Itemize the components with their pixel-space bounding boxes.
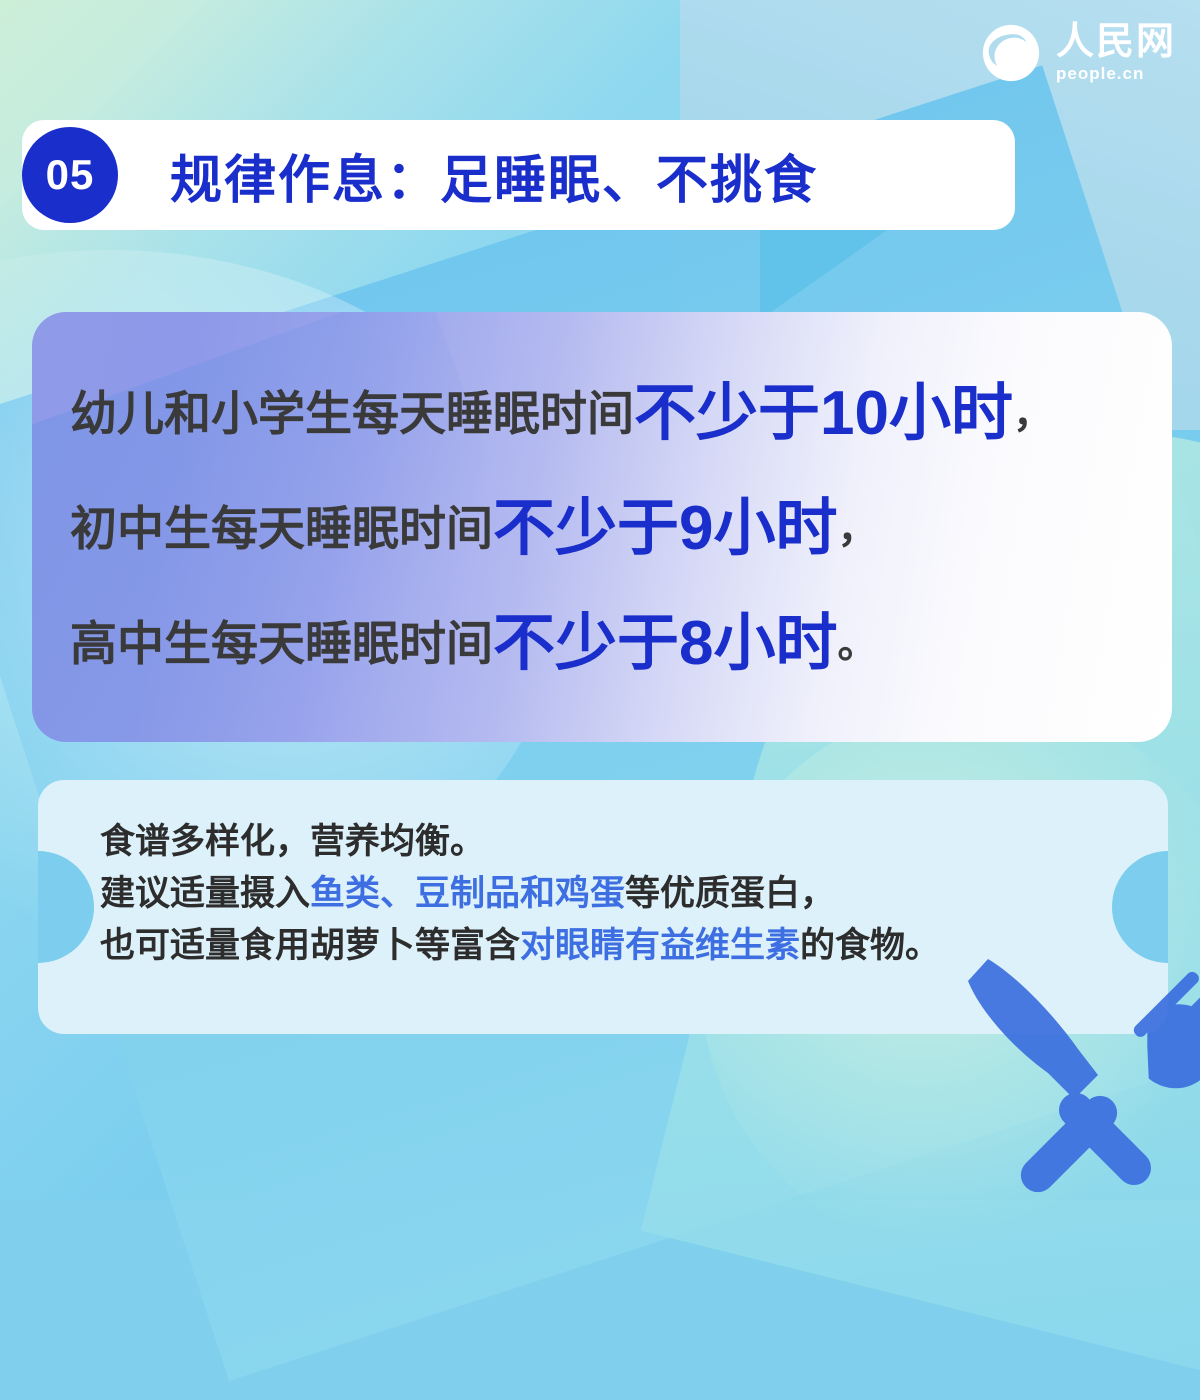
nutrition-advice-text: 食谱多样化，营养均衡。 建议适量摄入鱼类、豆制品和鸡蛋等优质蛋白， 也可适量食用…: [38, 780, 1168, 971]
brand-name-en: people.cn: [1056, 64, 1144, 84]
knife-and-fork-icon: [960, 955, 1200, 1215]
advice-segment-highlight: 鱼类、豆制品和鸡蛋: [310, 874, 625, 913]
advice-segment: 建议适量摄入: [100, 874, 310, 913]
sleep-statement-list: 幼儿和小学生每天睡眠时间 不少于10小时 ， 初中生每天睡眠时间 不少于9小时 …: [32, 312, 1172, 701]
statement-highlight-text: 不少于10小时: [634, 383, 1013, 445]
advice-line: 食谱多样化，营养均衡。: [100, 816, 1168, 868]
statement-plain-text: 高中生每天睡眠时间: [70, 620, 493, 667]
advice-segment: 也可适量食用胡萝卜等富含: [100, 926, 520, 965]
advice-segment: 食谱多样化，营养均衡。: [100, 822, 485, 861]
step-number-badge: 05: [22, 127, 118, 223]
brand-name-cn: 人民网: [1056, 22, 1176, 60]
brand-logo: 人民网 people.cn: [980, 22, 1176, 84]
advice-segment-highlight: 对眼睛有益维生素: [520, 926, 800, 965]
sleep-statement-row: 幼儿和小学生每天睡眠时间 不少于10小时 ，: [70, 356, 1172, 471]
page-title: 规律作息：足睡眠、不挑食: [170, 138, 818, 213]
statement-punctuation: ，: [837, 509, 877, 549]
statement-highlight-text: 不少于8小时: [493, 613, 837, 675]
section-header-bar: 规律作息：足睡眠、不挑食: [22, 120, 1015, 230]
statement-highlight-text: 不少于9小时: [493, 498, 837, 560]
advice-segment: 等优质蛋白，: [625, 874, 835, 913]
background-blue-wedge: [760, 228, 890, 320]
crescent-globe-icon: [980, 22, 1042, 84]
advice-line: 建议适量摄入鱼类、豆制品和鸡蛋等优质蛋白，: [100, 868, 1168, 920]
statement-plain-text: 幼儿和小学生每天睡眠时间: [70, 390, 634, 437]
brand-logo-text: 人民网 people.cn: [1056, 22, 1176, 84]
statement-punctuation: ，: [1013, 394, 1053, 434]
advice-segment: 的食物。: [800, 926, 940, 965]
sleep-statement-row: 高中生每天睡眠时间 不少于8小时 。: [70, 586, 1172, 701]
sleep-statement-row: 初中生每天睡眠时间 不少于9小时 ，: [70, 471, 1172, 586]
statement-punctuation: 。: [837, 624, 877, 664]
sleep-guideline-card: 幼儿和小学生每天睡眠时间 不少于10小时 ， 初中生每天睡眠时间 不少于9小时 …: [32, 312, 1172, 742]
statement-plain-text: 初中生每天睡眠时间: [70, 505, 493, 552]
